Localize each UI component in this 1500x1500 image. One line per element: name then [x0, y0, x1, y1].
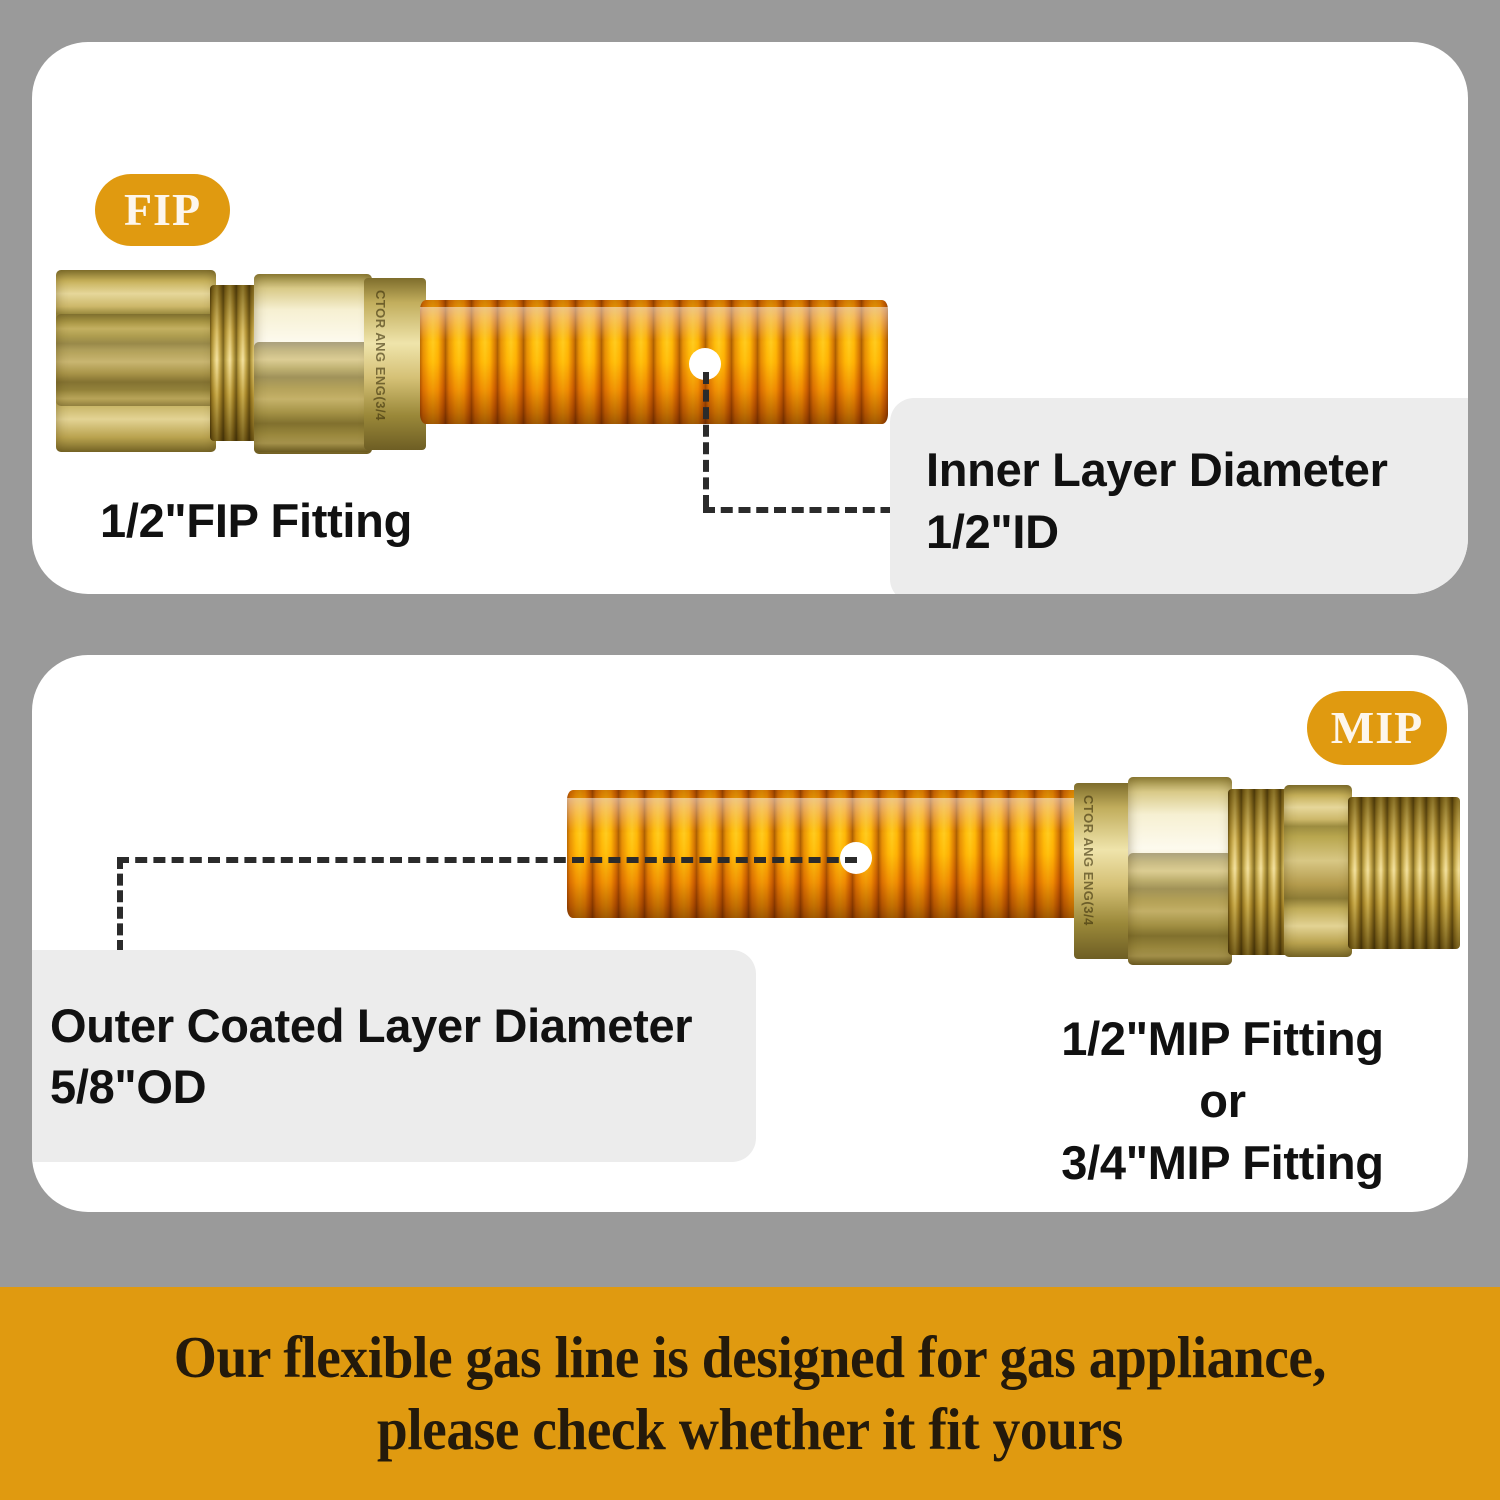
banner-text: Our flexible gas line is designed for ga…: [149, 1322, 1350, 1466]
callout-od-line1: Outer Coated Layer Diameter: [50, 995, 756, 1056]
bottom-banner: Our flexible gas line is designed for ga…: [0, 1287, 1500, 1500]
leader-vertical-id: [703, 372, 709, 507]
fitting-engraving-fip: CTOR ANG ENG(3/4: [373, 290, 388, 421]
hex-nut-female-shadow: [56, 314, 216, 406]
leader-vertical-od: [117, 857, 123, 952]
callout-id-line1: Inner Layer Diameter: [926, 439, 1468, 500]
hex-body-mip-shadow: [1128, 853, 1232, 965]
hex-body-mid-shadow: [254, 342, 372, 452]
badge-mip-label: MIP: [1331, 705, 1423, 751]
label-mip-fitting: 1/2"MIP Fitting or 3/4"MIP Fitting: [1025, 1008, 1420, 1194]
infographic-stage: CTOR ANG ENG(3/4 FIP 1/2"FIP Fitting Inn…: [0, 0, 1500, 1500]
thread-section-mip: [1228, 789, 1290, 955]
badge-mip: MIP: [1307, 691, 1447, 765]
leader-horizontal-od: [117, 857, 857, 863]
callout-od-line2: 5/8"OD: [50, 1056, 756, 1117]
callout-id-line2: 1/2"ID: [926, 501, 1468, 562]
male-pipe-threads-mip: [1348, 797, 1460, 949]
callout-outer-coated-diameter: Outer Coated Layer Diameter 5/8"OD: [32, 950, 756, 1162]
gas-hose-fip: [420, 300, 888, 424]
badge-fip-label: FIP: [124, 187, 201, 233]
hex-nut-second-mip: [1284, 785, 1352, 957]
panel-mip-card: CTOR ANG ENG(3/4 MIP 1/2"MIP Fitting or …: [32, 655, 1468, 1212]
thread-section-fip: [210, 285, 258, 441]
gas-hose-mip: [567, 790, 1107, 918]
callout-inner-layer-diameter: Inner Layer Diameter 1/2"ID: [890, 398, 1468, 594]
panel-fip-card: CTOR ANG ENG(3/4 FIP 1/2"FIP Fitting Inn…: [32, 42, 1468, 594]
fitting-engraving-mip: CTOR ANG ENG(3/4: [1081, 795, 1096, 926]
badge-fip: FIP: [95, 174, 230, 246]
label-fip-fitting: 1/2"FIP Fitting: [100, 490, 412, 552]
